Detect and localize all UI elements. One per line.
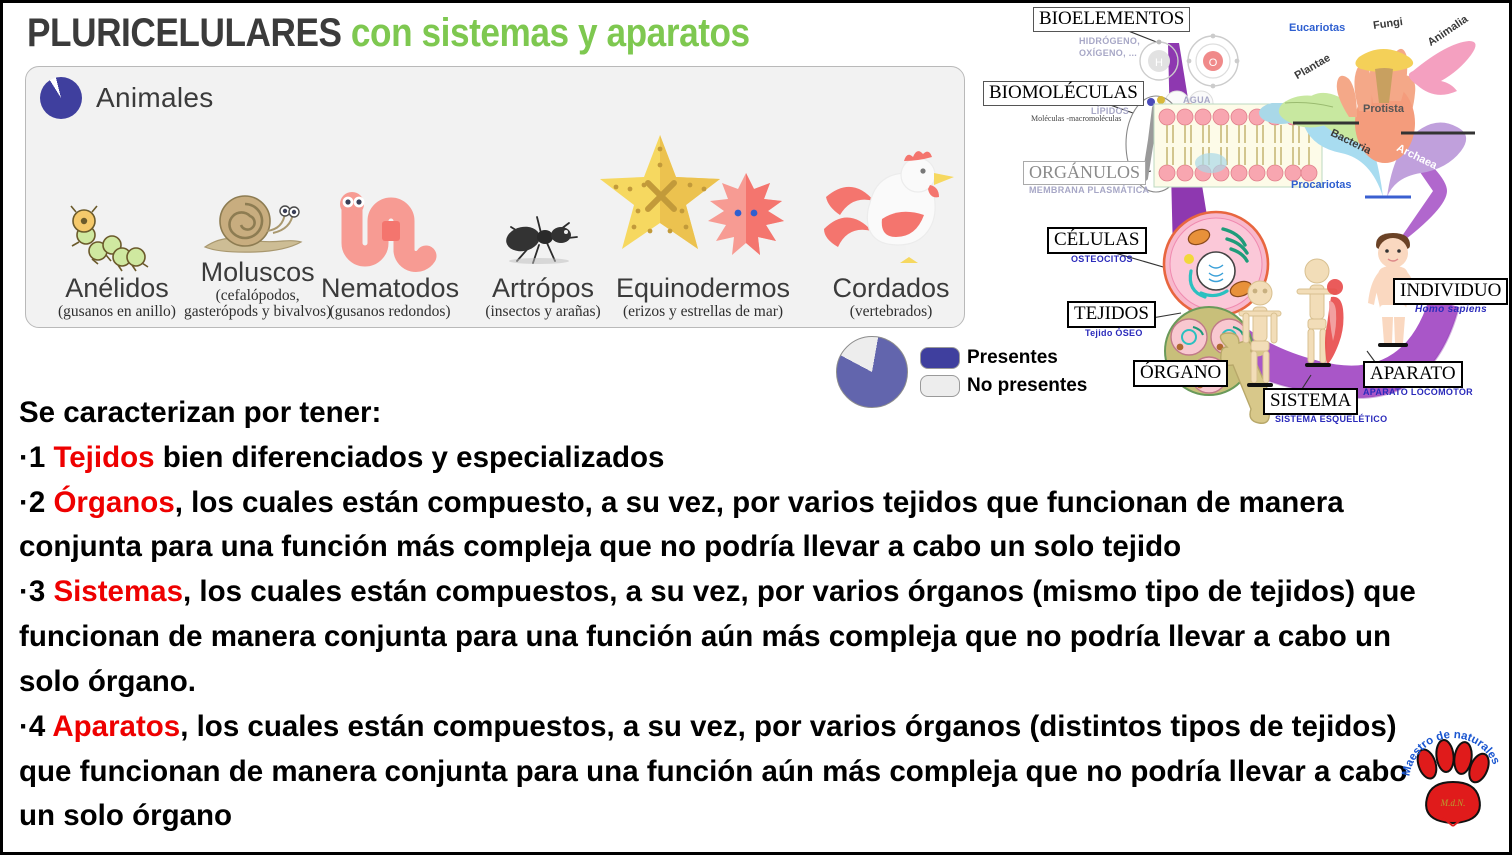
body-item-3-num: ·3 bbox=[19, 575, 53, 608]
title-part-2: con sistemas y aparatos bbox=[351, 11, 750, 55]
body-item-2-num: ·2 bbox=[19, 486, 53, 519]
body-item-4-keyword: Aparatos bbox=[52, 710, 180, 743]
diagram-sublabel-membrana: MEMBRANA PLASMÁTICA bbox=[1029, 185, 1149, 195]
list-item-sublabel: (erizos y estrellas de mar) bbox=[623, 304, 783, 321]
body-item-2-keyword: Órganos bbox=[53, 486, 174, 519]
body-item-1-rest: bien diferenciados y especializados bbox=[155, 441, 665, 474]
rooster-icon bbox=[816, 145, 966, 275]
animals-panel-header: Animales bbox=[40, 77, 214, 119]
list-item-sublabel: (insectos y arañas) bbox=[485, 304, 600, 321]
body-item-3: ·3 Sistemas, los cuales están compuestos… bbox=[19, 570, 1419, 704]
title-part-1: PLURICELULARES bbox=[27, 11, 342, 55]
list-item-moluscos[interactable]: Moluscos (cefalópodos,gasterópods y biva… bbox=[184, 141, 331, 321]
list-item-label: Moluscos bbox=[201, 259, 315, 286]
pie-icon bbox=[40, 77, 82, 119]
body-text-block: Se caracterizan por tener: ·1 Tejidos bi… bbox=[19, 391, 1419, 839]
levels-of-organization-diagram: H O bbox=[963, 3, 1512, 433]
diagram-label-bioelementos: BIOELEMENTOS bbox=[1033, 7, 1190, 32]
diagram-sublabel-homo-sapiens: Homo sapiens bbox=[1415, 304, 1487, 315]
caterpillar-icon bbox=[52, 157, 182, 275]
diagram-sublabel-hidrogeno: HIDRÓGENO, bbox=[1079, 36, 1140, 46]
list-item-label: Artrópos bbox=[492, 275, 594, 302]
diagram-label-celulas: CÉLULAS bbox=[1047, 227, 1147, 254]
body-item-1: ·1 Tejidos bien diferenciados y especial… bbox=[19, 436, 1419, 481]
body-item-1-keyword: Tejidos bbox=[53, 441, 154, 474]
diagram-label-tejidos: TEJIDOS bbox=[1067, 301, 1156, 328]
locomotor-apparatus-icon bbox=[1293, 257, 1355, 369]
svg-text:M.d.N.: M.d.N. bbox=[1440, 798, 1466, 808]
sea-urchin-icon bbox=[708, 173, 784, 255]
svg-text:H: H bbox=[1155, 57, 1163, 69]
slide-canvas: PLURICELULARES con sistemas y aparatos A… bbox=[0, 0, 1512, 855]
list-item-sublabel: (gusanos redondos) bbox=[330, 304, 451, 321]
snail-icon bbox=[193, 141, 323, 259]
diagram-sublabel-tejido-oseo: Tejido ÓSEO bbox=[1085, 328, 1143, 338]
list-item-anelidos[interactable]: Anélidos (gusanos en anillo) bbox=[52, 157, 182, 321]
animals-panel-title: Animales bbox=[96, 82, 214, 114]
animals-list: Anélidos (gusanos en anillo) bbox=[26, 121, 964, 327]
body-item-4: ·4 Aparatos, los cuales están compuestos… bbox=[19, 705, 1419, 839]
worm-icon bbox=[325, 157, 455, 275]
diagram-sublabel-agua: AGUA bbox=[1183, 95, 1211, 105]
list-item-nematodos[interactable]: Nematodos (gusanos redondos) bbox=[321, 157, 459, 321]
phylogenetic-tree-graphic: Eucariotas Procariotas Plantae Fungi Ani… bbox=[1263, 11, 1511, 201]
list-item-sublabel: (cefalópodos,gasterópods y bivalvos) bbox=[184, 288, 331, 321]
body-item-2-rest: , los cuales están compuesto, a su vez, … bbox=[19, 486, 1344, 564]
diagram-sublabel-osteocitos: OSTEOCITOS bbox=[1071, 254, 1133, 264]
body-item-3-keyword: Sistemas bbox=[53, 575, 183, 608]
svg-text:O: O bbox=[1209, 57, 1218, 69]
diagram-sublabel-oxigeno: OXÍGENO, ... bbox=[1079, 48, 1137, 58]
body-item-4-num: ·4 bbox=[19, 710, 52, 743]
list-item-equinodermos[interactable]: Equinodermos (erizos y estrellas de mar) bbox=[598, 127, 808, 321]
diagram-label-organulos: ORGÁNULOS bbox=[1023, 161, 1146, 185]
list-item-label: Equinodermos bbox=[616, 275, 790, 302]
body-item-1-num: ·1 bbox=[19, 441, 53, 474]
tree-label-eucariotas: Eucariotas bbox=[1289, 22, 1345, 34]
body-item-3-rest: , los cuales están compuestos, a su vez,… bbox=[19, 575, 1416, 698]
body-item-2: ·2 Órganos, los cuales están compuesto, … bbox=[19, 481, 1419, 571]
skeleton-system-icon bbox=[1231, 279, 1289, 387]
list-item-label: Anélidos bbox=[65, 275, 169, 302]
diagram-label-individuo: INDIVIDUO bbox=[1393, 278, 1508, 305]
page-title: PLURICELULARES con sistemas y aparatos bbox=[27, 11, 750, 56]
body-intro: Se caracterizan por tener: bbox=[19, 391, 1419, 436]
list-item-sublabel: (gusanos en anillo) bbox=[58, 304, 176, 321]
list-item-label: Nematodos bbox=[321, 275, 459, 302]
list-item-artropos[interactable]: Artrópos (insectos y arañas) bbox=[478, 157, 608, 321]
starfish-and-urchin-icon bbox=[598, 127, 808, 275]
diagram-label-organo: ÓRGANO bbox=[1133, 360, 1228, 387]
starfish-icon bbox=[600, 135, 720, 249]
ant-icon bbox=[478, 157, 608, 275]
diagram-sublabel-moleculas: Moléculas -macromoléculas bbox=[1031, 114, 1121, 123]
body-item-4-rest: , los cuales están compuestos, a su vez,… bbox=[19, 710, 1407, 833]
diagram-label-aparato: APARATO bbox=[1363, 361, 1463, 388]
tree-label-procariotas: Procariotas bbox=[1291, 179, 1352, 191]
tree-label-protista: Protista bbox=[1363, 103, 1404, 115]
list-item-cordados[interactable]: Cordados (vertebrados) bbox=[816, 145, 966, 321]
list-item-sublabel: (vertebrados) bbox=[850, 304, 933, 321]
legend-swatch-presentes bbox=[920, 347, 960, 369]
list-item-label: Cordados bbox=[832, 275, 949, 302]
maestro-de-naturales-paw-logo[interactable]: M.d.N. Maestro de naturales bbox=[1397, 706, 1509, 828]
diagram-label-biomoleculas: BIOMOLÉCULAS bbox=[983, 81, 1144, 106]
animals-panel: Animales bbox=[25, 66, 965, 328]
